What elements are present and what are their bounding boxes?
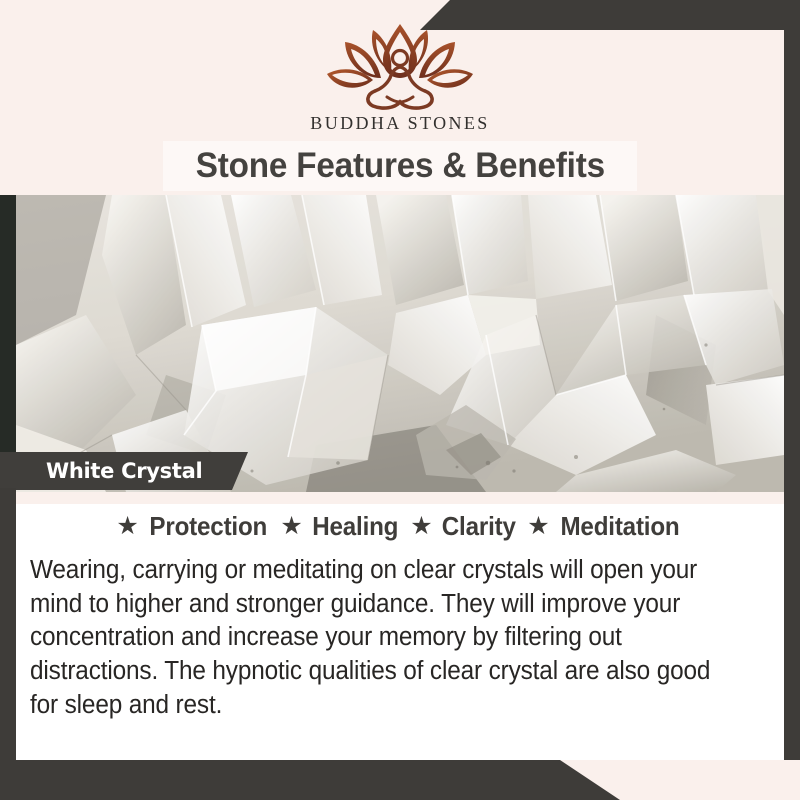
star-icon: ★ <box>410 514 432 539</box>
star-icon: ★ <box>527 514 549 539</box>
benefit-item-protection: ★ Protection <box>116 511 271 542</box>
brand-name: BUDDHA STONES <box>310 113 489 134</box>
title-banner: Stone Features & Benefits <box>163 141 637 191</box>
photo-caption-label: White Crystal <box>46 459 202 483</box>
photo-left-shadow <box>0 195 16 492</box>
benefit-label: Clarity <box>441 511 515 542</box>
crystal-photo <box>16 195 784 492</box>
benefit-label: Protection <box>149 511 267 542</box>
content-section: ★ Protection ★ Healing ★ Clarity ★ Medit… <box>16 492 784 760</box>
benefits-list: ★ Protection ★ Healing ★ Clarity ★ Medit… <box>16 511 784 542</box>
page-title: Stone Features & Benefits <box>195 146 604 186</box>
decorative-corner-bottom-left <box>0 760 620 800</box>
description-paragraph: Wearing, carrying or meditating on clear… <box>30 554 739 722</box>
benefit-label: Meditation <box>560 511 679 542</box>
star-icon: ★ <box>280 514 302 539</box>
content-top-tint <box>16 492 784 504</box>
decorative-corner-top-right <box>420 0 800 30</box>
decorative-edge-right <box>784 0 800 760</box>
decorative-edge-left <box>0 488 16 800</box>
benefit-item-clarity: ★ Clarity <box>410 511 518 542</box>
star-icon: ★ <box>116 514 138 539</box>
poster-canvas: BUDDHA STONES Stone Features & Benefits <box>0 0 800 800</box>
lotus-meditation-figure-icon <box>315 22 485 110</box>
photo-caption-tag: White Crystal <box>0 452 248 490</box>
benefit-label: Healing <box>312 511 398 542</box>
brand-logo-block: BUDDHA STONES <box>0 22 800 134</box>
benefit-item-meditation: ★ Meditation <box>527 511 683 542</box>
benefit-item-healing: ★ Healing <box>280 511 401 542</box>
